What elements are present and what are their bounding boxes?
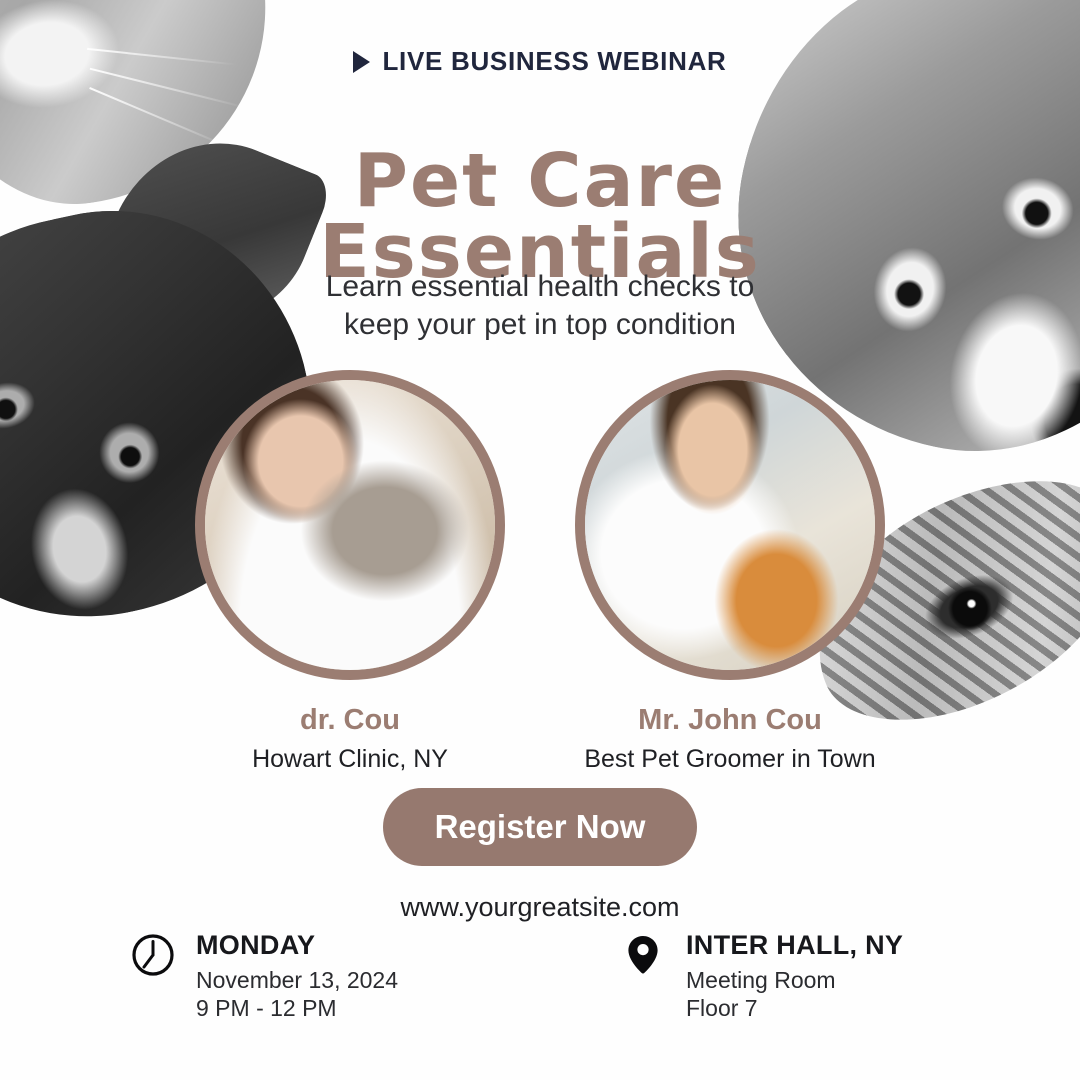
register-now-button[interactable]: Register Now: [383, 788, 698, 866]
website-url[interactable]: www.yourgreatsite.com: [0, 892, 1080, 923]
venue-block: INTER HALL, NY Meeting Room Floor 7: [620, 930, 950, 1022]
speaker-role-2: Best Pet Groomer in Town: [560, 745, 900, 774]
subtitle: Learn essential health checks to keep yo…: [0, 268, 1080, 345]
speaker-name-1: dr. Cou: [180, 704, 520, 737]
subtitle-line-2: keep your pet in top condition: [0, 306, 1080, 344]
speaker-role-1: Howart Clinic, NY: [180, 745, 520, 774]
webinar-poster: LIVE BUSINESS WEBINAR Pet Care Essential…: [0, 0, 1080, 1080]
schedule-heading: MONDAY: [196, 930, 398, 961]
venue-room: Meeting Room: [686, 967, 903, 994]
clock-icon: [130, 932, 176, 983]
play-triangle-icon: [353, 51, 370, 73]
subtitle-line-1: Learn essential health checks to: [0, 268, 1080, 306]
speaker-list: dr. Cou Howart Clinic, NY Mr. John Cou B…: [0, 370, 1080, 774]
schedule-time: 9 PM - 12 PM: [196, 995, 398, 1022]
speaker-card-1: dr. Cou Howart Clinic, NY: [180, 370, 520, 774]
speaker-name-2: Mr. John Cou: [560, 704, 900, 737]
eyebrow-label: LIVE BUSINESS WEBINAR: [382, 46, 726, 77]
venue-heading: INTER HALL, NY: [686, 930, 903, 961]
venue-text: INTER HALL, NY Meeting Room Floor 7: [686, 930, 903, 1022]
woman-with-cat-photo: [205, 380, 495, 670]
eyebrow-banner: LIVE BUSINESS WEBINAR: [0, 46, 1080, 77]
schedule-block: MONDAY November 13, 2024 9 PM - 12 PM: [130, 930, 460, 1022]
speaker-avatar-1: [195, 370, 505, 680]
man-with-cat-photo: [585, 380, 875, 670]
whisker-line: [89, 87, 228, 147]
speaker-avatar-2: [575, 370, 885, 680]
cta-section: Register Now www.yourgreatsite.com: [0, 788, 1080, 923]
footer-details: MONDAY November 13, 2024 9 PM - 12 PM IN…: [0, 930, 1080, 1022]
schedule-date: November 13, 2024: [196, 967, 398, 994]
speaker-card-2: Mr. John Cou Best Pet Groomer in Town: [560, 370, 900, 774]
schedule-text: MONDAY November 13, 2024 9 PM - 12 PM: [196, 930, 398, 1022]
location-pin-icon: [620, 932, 666, 983]
venue-floor: Floor 7: [686, 995, 903, 1022]
